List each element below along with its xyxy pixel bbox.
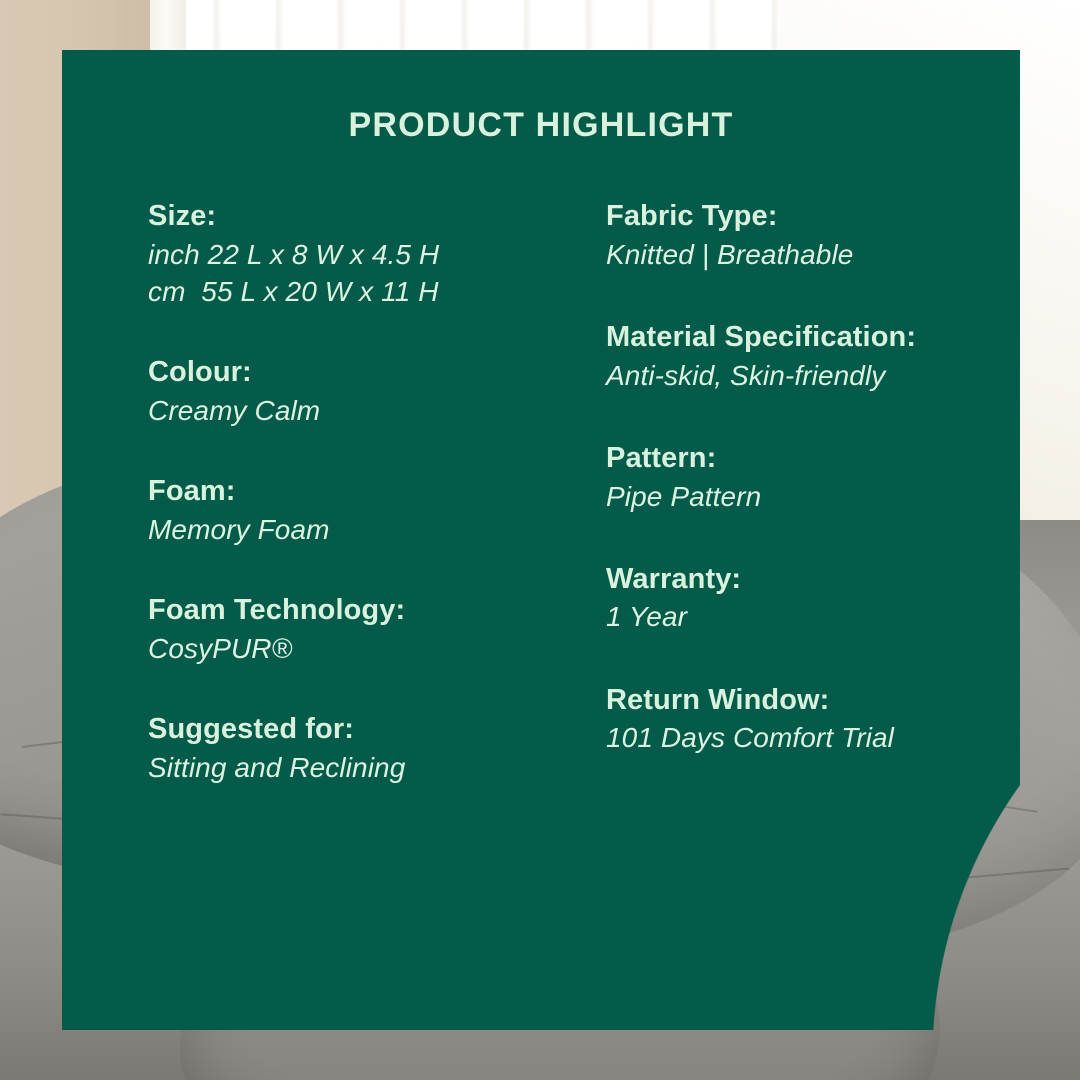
spec-label: Material Specification: [606,319,1076,357]
spec-value: Pipe Pattern [606,478,1076,515]
spec-size: Size: inch 22 L x 8 W x 4.5 H cm 55 L x … [148,198,588,310]
spec-foam: Foam: Memory Foam [148,473,588,548]
spec-panel: PRODUCT HIGHLIGHT Size: inch 22 L x 8 W … [62,50,1020,1030]
spec-value: 1 Year [606,598,1076,635]
spec-suggested-for: Suggested for: Sitting and Reclining [148,711,588,786]
spec-columns: Size: inch 22 L x 8 W x 4.5 H cm 55 L x … [62,198,1020,803]
spec-column-left: Size: inch 22 L x 8 W x 4.5 H cm 55 L x … [62,198,588,803]
spec-label: Warranty: [606,561,1076,599]
spec-return-window: Return Window: 101 Days Comfort Trial [606,682,1076,757]
page-title: PRODUCT HIGHLIGHT [62,106,1020,145]
spec-warranty: Warranty: 1 Year [606,561,1076,636]
spec-value: Sitting and Reclining [148,749,588,786]
spec-label: Size: [148,198,588,236]
spec-value: CosyPUR® [148,630,588,667]
spec-fabric-type: Fabric Type: Knitted | Breathable [606,198,1076,273]
spec-label: Foam Technology: [148,592,588,630]
spec-material-specification: Material Specification: Anti-skid, Skin-… [606,319,1076,394]
spec-colour: Colour: Creamy Calm [148,354,588,429]
spec-pattern: Pattern: Pipe Pattern [606,440,1076,515]
spec-label: Return Window: [606,682,1076,720]
spec-label: Fabric Type: [606,198,1076,236]
spec-label: Pattern: [606,440,1076,478]
product-highlight-card: PRODUCT HIGHLIGHT Size: inch 22 L x 8 W … [0,0,1080,1080]
spec-label: Colour: [148,354,588,392]
spec-value: Memory Foam [148,511,588,548]
spec-value: Creamy Calm [148,392,588,429]
spec-label: Suggested for: [148,711,588,749]
spec-value: cm 55 L x 20 W x 11 H [148,273,588,310]
spec-column-right: Fabric Type: Knitted | Breathable Materi… [588,198,1076,803]
spec-value: Anti-skid, Skin-friendly [606,357,1076,394]
spec-value: 101 Days Comfort Trial [606,719,1076,756]
spec-value: Knitted | Breathable [606,236,1076,273]
spec-foam-technology: Foam Technology: CosyPUR® [148,592,588,667]
spec-label: Foam: [148,473,588,511]
spec-value: inch 22 L x 8 W x 4.5 H [148,236,588,273]
